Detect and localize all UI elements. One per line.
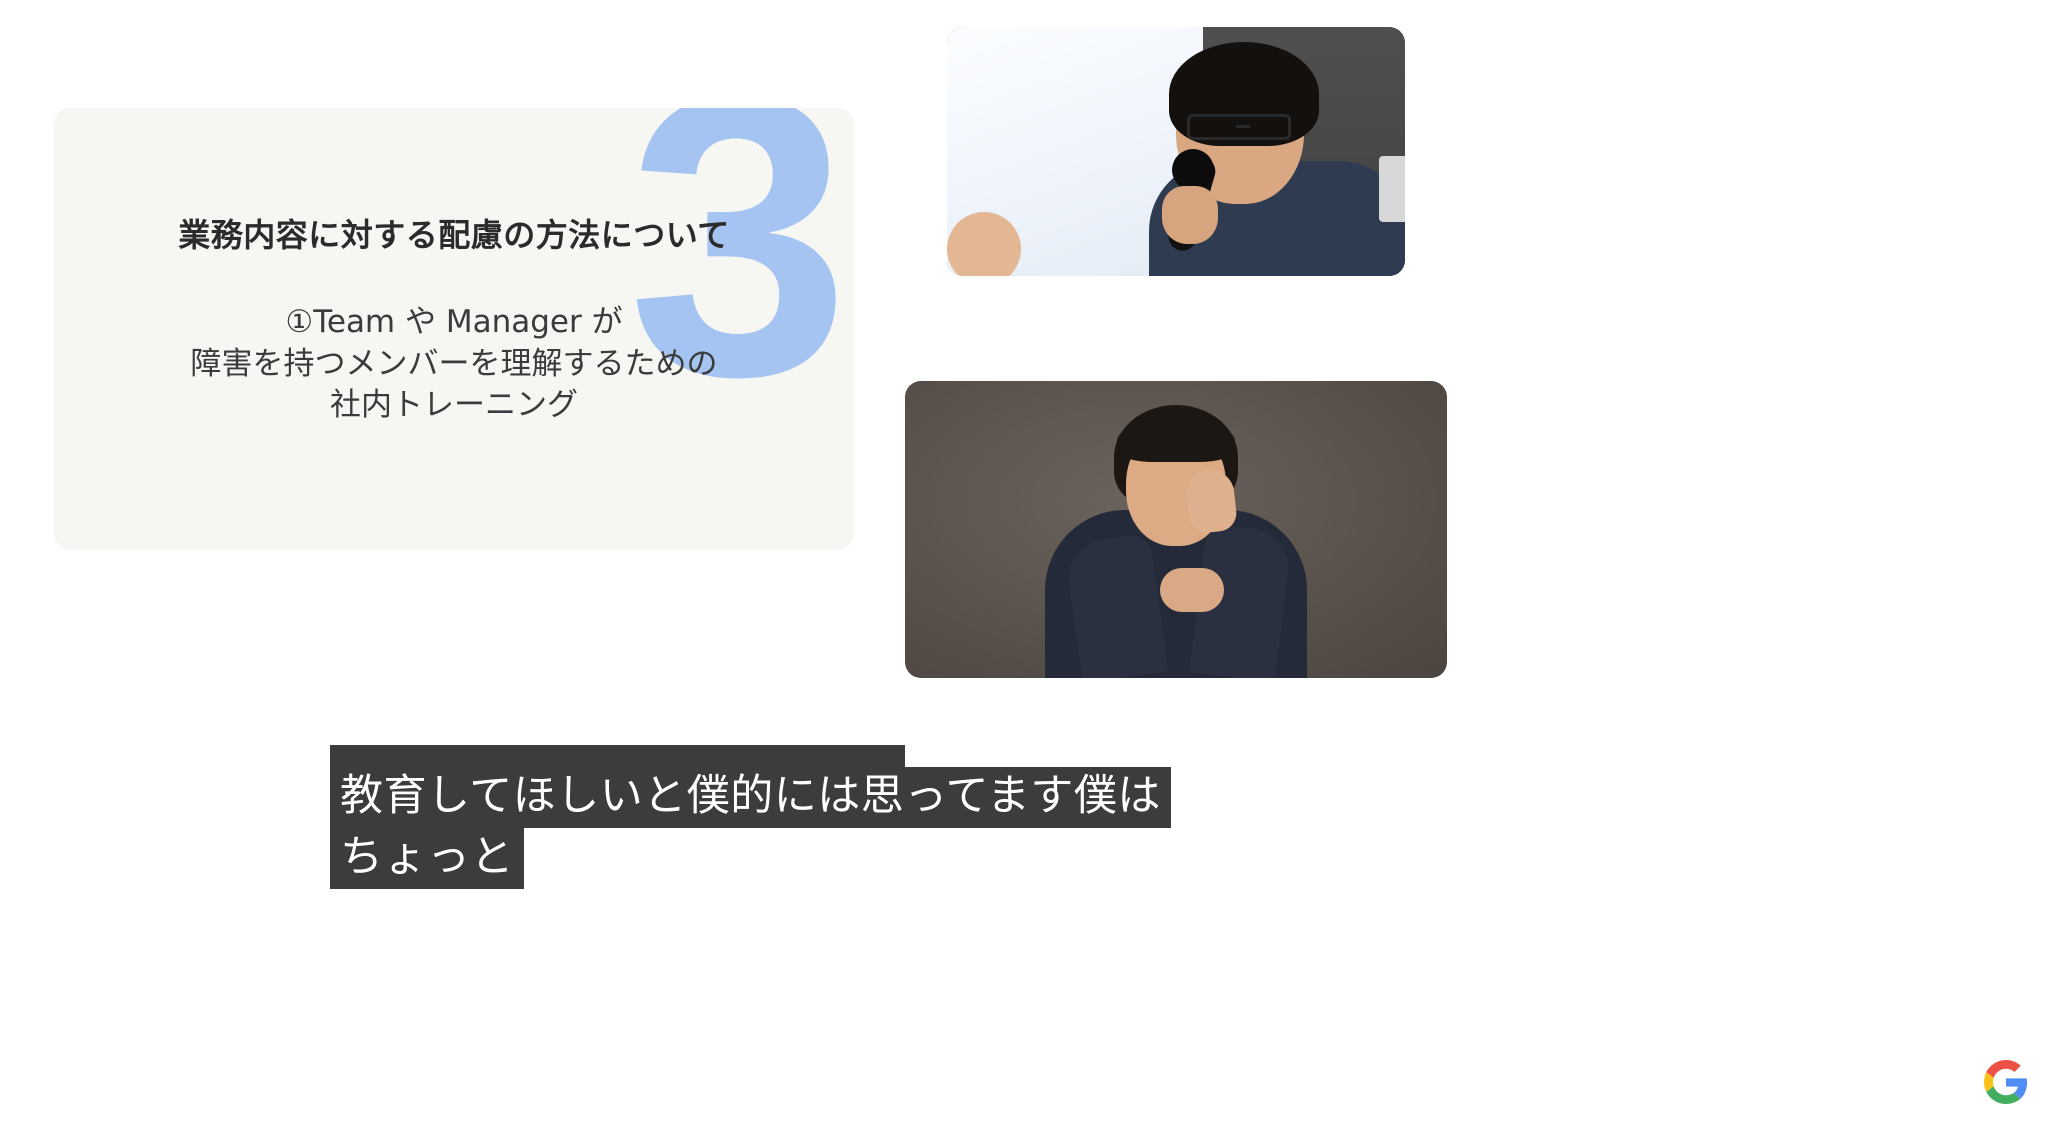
presentation-slide-card: 3 業務内容に対する配慮の方法について ①Team や Manager が 障害… <box>40 94 868 564</box>
interpreter-video-frame <box>905 381 1447 678</box>
edge-prop <box>1379 156 1405 222</box>
interpreter-video-thumbnail[interactable] <box>892 368 1460 691</box>
slide-content: 3 業務内容に対する配慮の方法について ①Team や Manager が 障害… <box>54 108 854 550</box>
caption-previous-line-remnant <box>330 745 905 767</box>
slide-body-line-3: 社内トレーニング <box>54 385 854 427</box>
caption-line-2: ちょっと <box>330 828 524 889</box>
slide-text-block: 業務内容に対する配慮の方法について ①Team や Manager が 障害を持… <box>54 210 854 427</box>
slide-body-line-2: 障害を持つメンバーを理解するための <box>54 344 854 386</box>
speaker-video-frame <box>947 27 1405 276</box>
speaker-video-thumbnail[interactable] <box>934 14 1418 289</box>
slide-body-line-1: ①Team や Manager が <box>54 302 854 344</box>
google-g-logo <box>1984 1060 2028 1104</box>
slide-body: ①Team や Manager が 障害を持つメンバーを理解するための 社内トレ… <box>54 302 854 427</box>
eyeglasses-icon <box>1187 114 1291 140</box>
slide-inner-surface: 3 業務内容に対する配慮の方法について ①Team や Manager が 障害… <box>54 108 854 550</box>
speaker-video-surface[interactable] <box>947 27 1405 276</box>
interpreter-fringe <box>1117 420 1235 462</box>
caption-line-1: 教育してほしいと僕的には思ってます僕は <box>330 767 1171 828</box>
interpreter-signing-hand-lower <box>1160 568 1224 612</box>
caption-overlay: 教育してほしいと僕的には思ってます僕は ちょっと <box>330 745 1090 889</box>
video-player-stage: 3 業務内容に対する配慮の方法について ①Team や Manager が 障害… <box>0 0 2050 1124</box>
interpreter-video-surface[interactable] <box>905 381 1447 678</box>
slide-title: 業務内容に対する配慮の方法について <box>54 210 854 256</box>
speaker-hand <box>1162 186 1218 244</box>
